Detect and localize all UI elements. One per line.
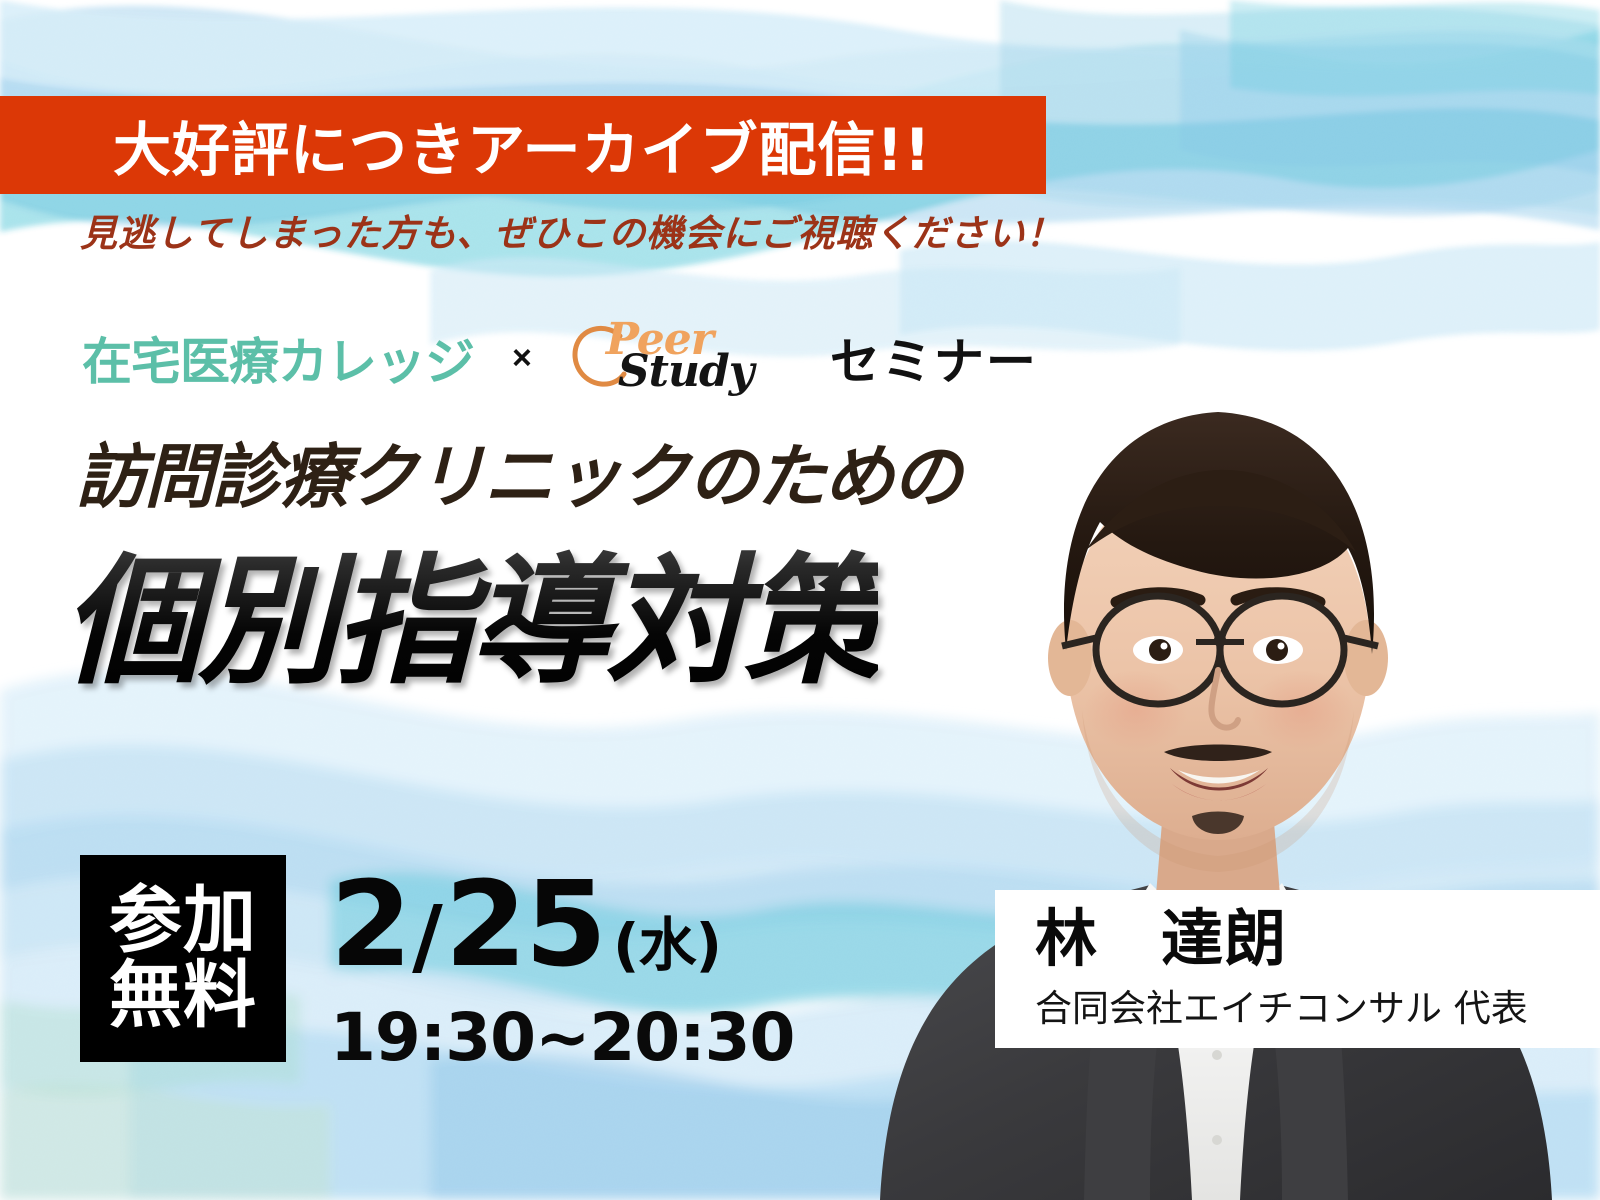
seminar-label: セミナー xyxy=(830,322,1038,394)
date-separator: / xyxy=(412,887,443,985)
study-wordmark: Study xyxy=(618,346,753,397)
cross-icon: × xyxy=(512,339,532,378)
lead-copy-text: 見逃してしまった方も、ぜひこの機会にご視聴ください！ xyxy=(80,203,1064,257)
zaitaku-college-logo: 在宅医療カレッジ xyxy=(82,322,474,394)
free-badge-line-1: 参加 xyxy=(109,884,257,958)
event-time-range: 19:30~20:30 xyxy=(330,999,794,1076)
free-badge-line-2: 無料 xyxy=(109,959,257,1033)
title-line-2: 個別指導対策 xyxy=(62,509,878,711)
date-time-block: 2 / 25 (水) 19:30~20:30 xyxy=(330,855,794,1076)
free-participation-badge: 参加 無料 xyxy=(80,855,286,1062)
event-month: 2 xyxy=(330,855,410,993)
logo-row: 在宅医療カレッジ × Peer Study セミナー xyxy=(82,316,1038,400)
event-weekday: (水) xyxy=(613,898,721,982)
archive-banner-text: 大好評につきアーカイブ配信!! xyxy=(0,103,931,187)
event-day: 25 xyxy=(445,855,605,993)
event-date: 2 / 25 (水) xyxy=(330,855,794,993)
peer-study-logo: Peer Study xyxy=(566,316,756,400)
speaker-title: 合同会社エイチコンサル 代表 xyxy=(1035,978,1600,1032)
speaker-name-card: 林 達朗 合同会社エイチコンサル 代表 xyxy=(995,890,1600,1048)
speaker-name: 林 達朗 xyxy=(1035,906,1600,971)
seminar-poster: 大好評につきアーカイブ配信!! 見逃してしまった方も、ぜひこの機会にご視聴くださ… xyxy=(0,0,1600,1200)
archive-announcement-banner: 大好評につきアーカイブ配信!! xyxy=(0,96,1046,194)
title-line-1: 訪問診療クリニックのための xyxy=(76,421,960,522)
